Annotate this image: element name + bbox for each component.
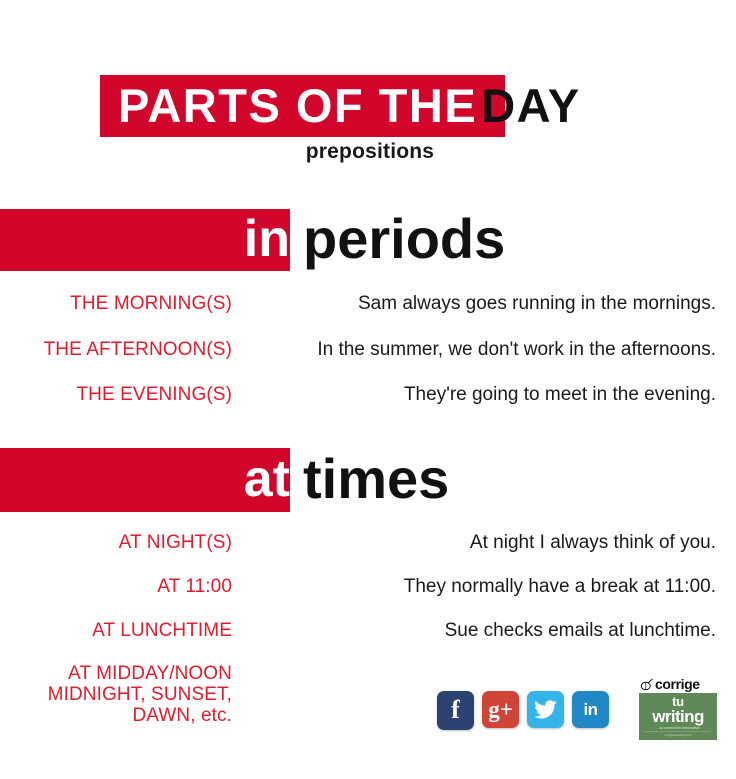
- page-title: PARTS OF THEDAY: [100, 75, 581, 137]
- logo-green-box: tu writing ...tu corrección interactiva …: [639, 693, 717, 740]
- row-term: AT LUNCHTIME: [0, 620, 232, 642]
- table-row: THE MORNING(S) Sam always goes running i…: [0, 293, 736, 315]
- table-row: THE EVENING(S) They're going to meet in …: [0, 384, 736, 406]
- row-term: AT MIDDAY/NOON MIDNIGHT, SUNSET, DAWN, e…: [0, 663, 232, 726]
- mouse-pen-icon: [639, 678, 654, 691]
- social-links-bar: f g+ in: [437, 691, 609, 730]
- row-term: AT 11:00: [0, 576, 232, 598]
- title-highlighted-text: PARTS OF THE: [100, 79, 477, 132]
- title-plain-text: DAY: [477, 79, 580, 132]
- logo-brand-corrige: corrige: [655, 677, 700, 691]
- twitter-icon[interactable]: [527, 691, 564, 728]
- brand-logo[interactable]: corrige tu writing ...tu corrección inte…: [639, 676, 717, 740]
- logo-tagline: ...tu corrección interactiva: [639, 725, 717, 730]
- section-preposition-at: at: [244, 448, 290, 512]
- table-row: AT LUNCHTIME Sue checks emails at luncht…: [0, 620, 736, 642]
- title-block: PARTS OF THEDAY: [0, 75, 736, 137]
- row-term: THE EVENING(S): [0, 384, 232, 406]
- row-term-line-3: DAWN, etc.: [0, 705, 232, 726]
- row-term-line-1: AT MIDDAY/NOON: [0, 663, 232, 684]
- section-noun-times: times: [303, 448, 449, 512]
- logo-brand-writing: writing: [639, 708, 717, 725]
- logo-microtext: corrigetuwriting.com: [645, 731, 711, 737]
- section-preposition-in: in: [244, 209, 290, 271]
- row-term: AT NIGHT(S): [0, 532, 232, 554]
- google-plus-glyph: g+: [488, 697, 513, 723]
- table-row: AT MIDDAY/NOON MIDNIGHT, SUNSET, DAWN, e…: [0, 663, 736, 726]
- page-subtitle: prepositions: [0, 140, 736, 164]
- table-row: THE AFTERNOON(S) In the summer, we don't…: [0, 339, 736, 361]
- row-term: THE AFTERNOON(S): [0, 339, 232, 361]
- facebook-glyph: f: [451, 695, 460, 725]
- table-row: AT 11:00 They normally have a break at 1…: [0, 576, 736, 598]
- twitter-bird-glyph: [534, 700, 557, 719]
- section-header-at: at times: [0, 448, 736, 512]
- logo-top-row: corrige: [639, 676, 717, 692]
- row-example: Sue checks emails at lunchtime.: [232, 620, 736, 642]
- facebook-icon[interactable]: f: [437, 691, 474, 730]
- row-example: They normally have a break at 11:00.: [232, 576, 736, 598]
- linkedin-icon[interactable]: in: [572, 691, 609, 728]
- row-example: In the summer, we don't work in the afte…: [232, 339, 736, 361]
- section-header-in: in periods: [0, 209, 736, 271]
- google-plus-icon[interactable]: g+: [482, 691, 519, 728]
- row-example: At night I always think of you.: [232, 532, 736, 554]
- linkedin-glyph: in: [583, 700, 597, 720]
- row-term: THE MORNING(S): [0, 293, 232, 315]
- page-subtitle-text: prepositions: [302, 140, 434, 164]
- row-example: They're going to meet in the evening.: [232, 384, 736, 406]
- row-example: Sam always goes running in the mornings.: [232, 293, 736, 315]
- table-row: AT NIGHT(S) At night I always think of y…: [0, 532, 736, 554]
- section-noun-periods: periods: [303, 209, 505, 271]
- row-term-line-2: MIDNIGHT, SUNSET,: [0, 684, 232, 705]
